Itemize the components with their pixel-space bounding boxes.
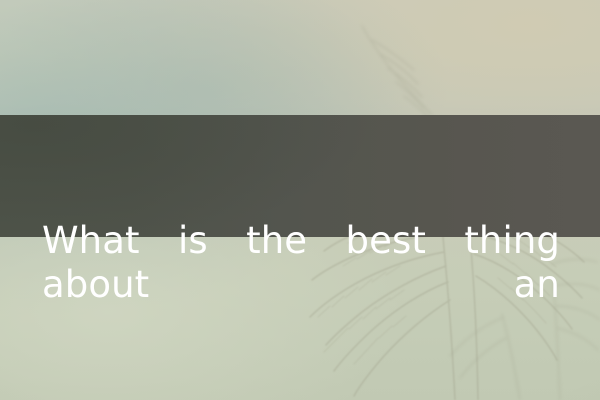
caption-line-2: Aquarius man? [42,395,560,400]
caption-band: What is the best thing about an Aquarius… [0,115,600,237]
caption-question: What is the best thing about an Aquarius… [42,131,560,400]
caption-line-1: What is the best thing about an [42,219,560,307]
screenshot-root: What is the best thing about an Aquarius… [0,0,600,400]
